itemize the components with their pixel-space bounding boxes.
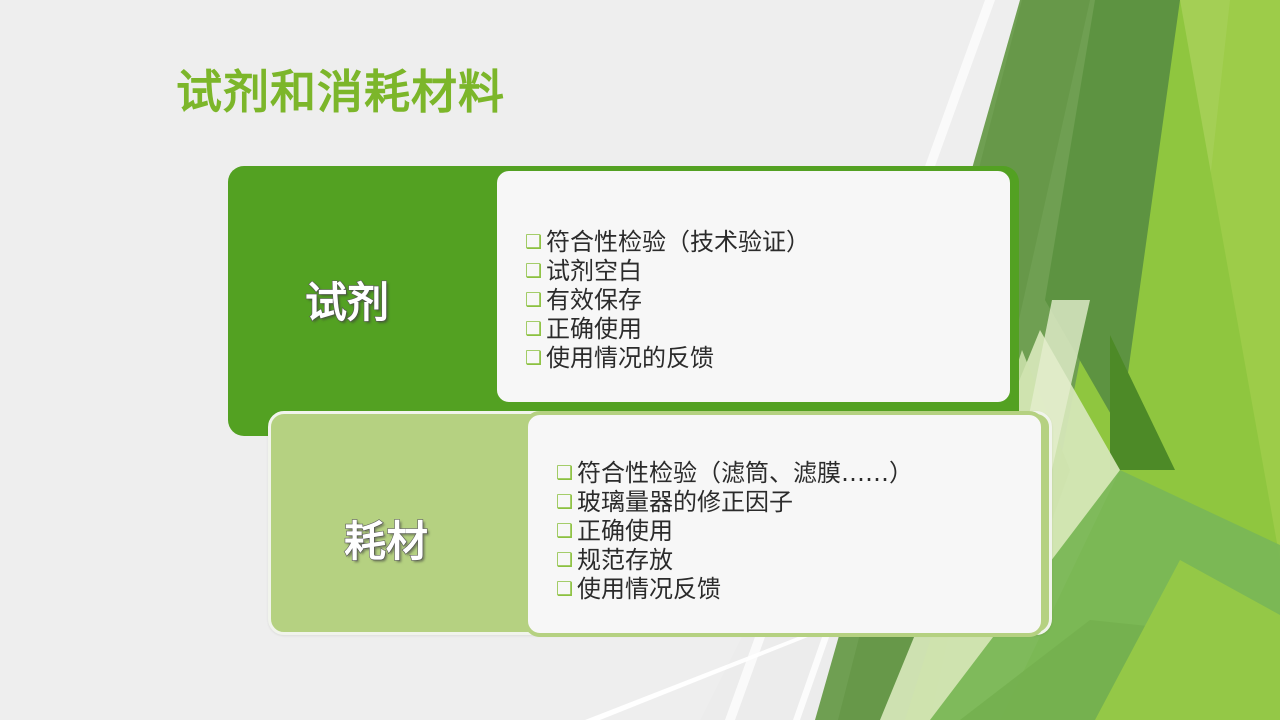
square-bullet-icon: ❑ xyxy=(525,286,542,315)
list-item-label: 正确使用 xyxy=(577,517,673,546)
list-item-label: 使用情况反馈 xyxy=(577,575,721,604)
square-bullet-icon: ❑ xyxy=(525,228,542,257)
list-item: ❑ 使用情况的反馈 xyxy=(525,344,810,373)
list-item-label: 符合性检验（技术验证） xyxy=(546,228,810,257)
square-bullet-icon: ❑ xyxy=(556,488,573,517)
square-bullet-icon: ❑ xyxy=(525,257,542,286)
list-item-label: 正确使用 xyxy=(546,315,642,344)
square-bullet-icon: ❑ xyxy=(556,575,573,604)
list-item: ❑ 有效保存 xyxy=(525,286,810,315)
group-card-consumables: ❑ 符合性检验（滤筒、滤膜……） ❑ 玻璃量器的修正因子 ❑ 正确使用 ❑ 规范… xyxy=(524,411,1045,637)
list-item-label: 玻璃量器的修正因子 xyxy=(577,488,793,517)
page-title: 试剂和消耗材料 xyxy=(176,68,505,116)
list-item: ❑ 玻璃量器的修正因子 xyxy=(556,488,913,517)
list-item-label: 有效保存 xyxy=(546,286,642,315)
list-item-label: 规范存放 xyxy=(577,546,673,575)
list-item: ❑ 正确使用 xyxy=(525,315,810,344)
bullet-list-consumables: ❑ 符合性检验（滤筒、滤膜……） ❑ 玻璃量器的修正因子 ❑ 正确使用 ❑ 规范… xyxy=(556,459,913,604)
list-item: ❑ 符合性检验（技术验证） xyxy=(525,228,810,257)
square-bullet-icon: ❑ xyxy=(556,546,573,575)
list-item-label: 使用情况的反馈 xyxy=(546,344,714,373)
square-bullet-icon: ❑ xyxy=(525,344,542,373)
group-card-reagent: ❑ 符合性检验（技术验证） ❑ 试剂空白 ❑ 有效保存 ❑ 正确使用 ❑ 使用情… xyxy=(493,167,1014,406)
square-bullet-icon: ❑ xyxy=(525,315,542,344)
list-item: ❑ 规范存放 xyxy=(556,546,913,575)
bullet-list-reagent: ❑ 符合性检验（技术验证） ❑ 试剂空白 ❑ 有效保存 ❑ 正确使用 ❑ 使用情… xyxy=(525,228,810,373)
square-bullet-icon: ❑ xyxy=(556,517,573,546)
list-item: ❑ 试剂空白 xyxy=(525,257,810,286)
group-label-reagent: 试剂 xyxy=(305,269,389,330)
list-item-label: 试剂空白 xyxy=(546,257,642,286)
group-label-consumables: 耗材 xyxy=(344,508,428,569)
list-item: ❑ 使用情况反馈 xyxy=(556,575,913,604)
list-item: ❑ 正确使用 xyxy=(556,517,913,546)
list-item-label: 符合性检验（滤筒、滤膜……） xyxy=(577,459,913,488)
square-bullet-icon: ❑ xyxy=(556,459,573,488)
list-item: ❑ 符合性检验（滤筒、滤膜……） xyxy=(556,459,913,488)
